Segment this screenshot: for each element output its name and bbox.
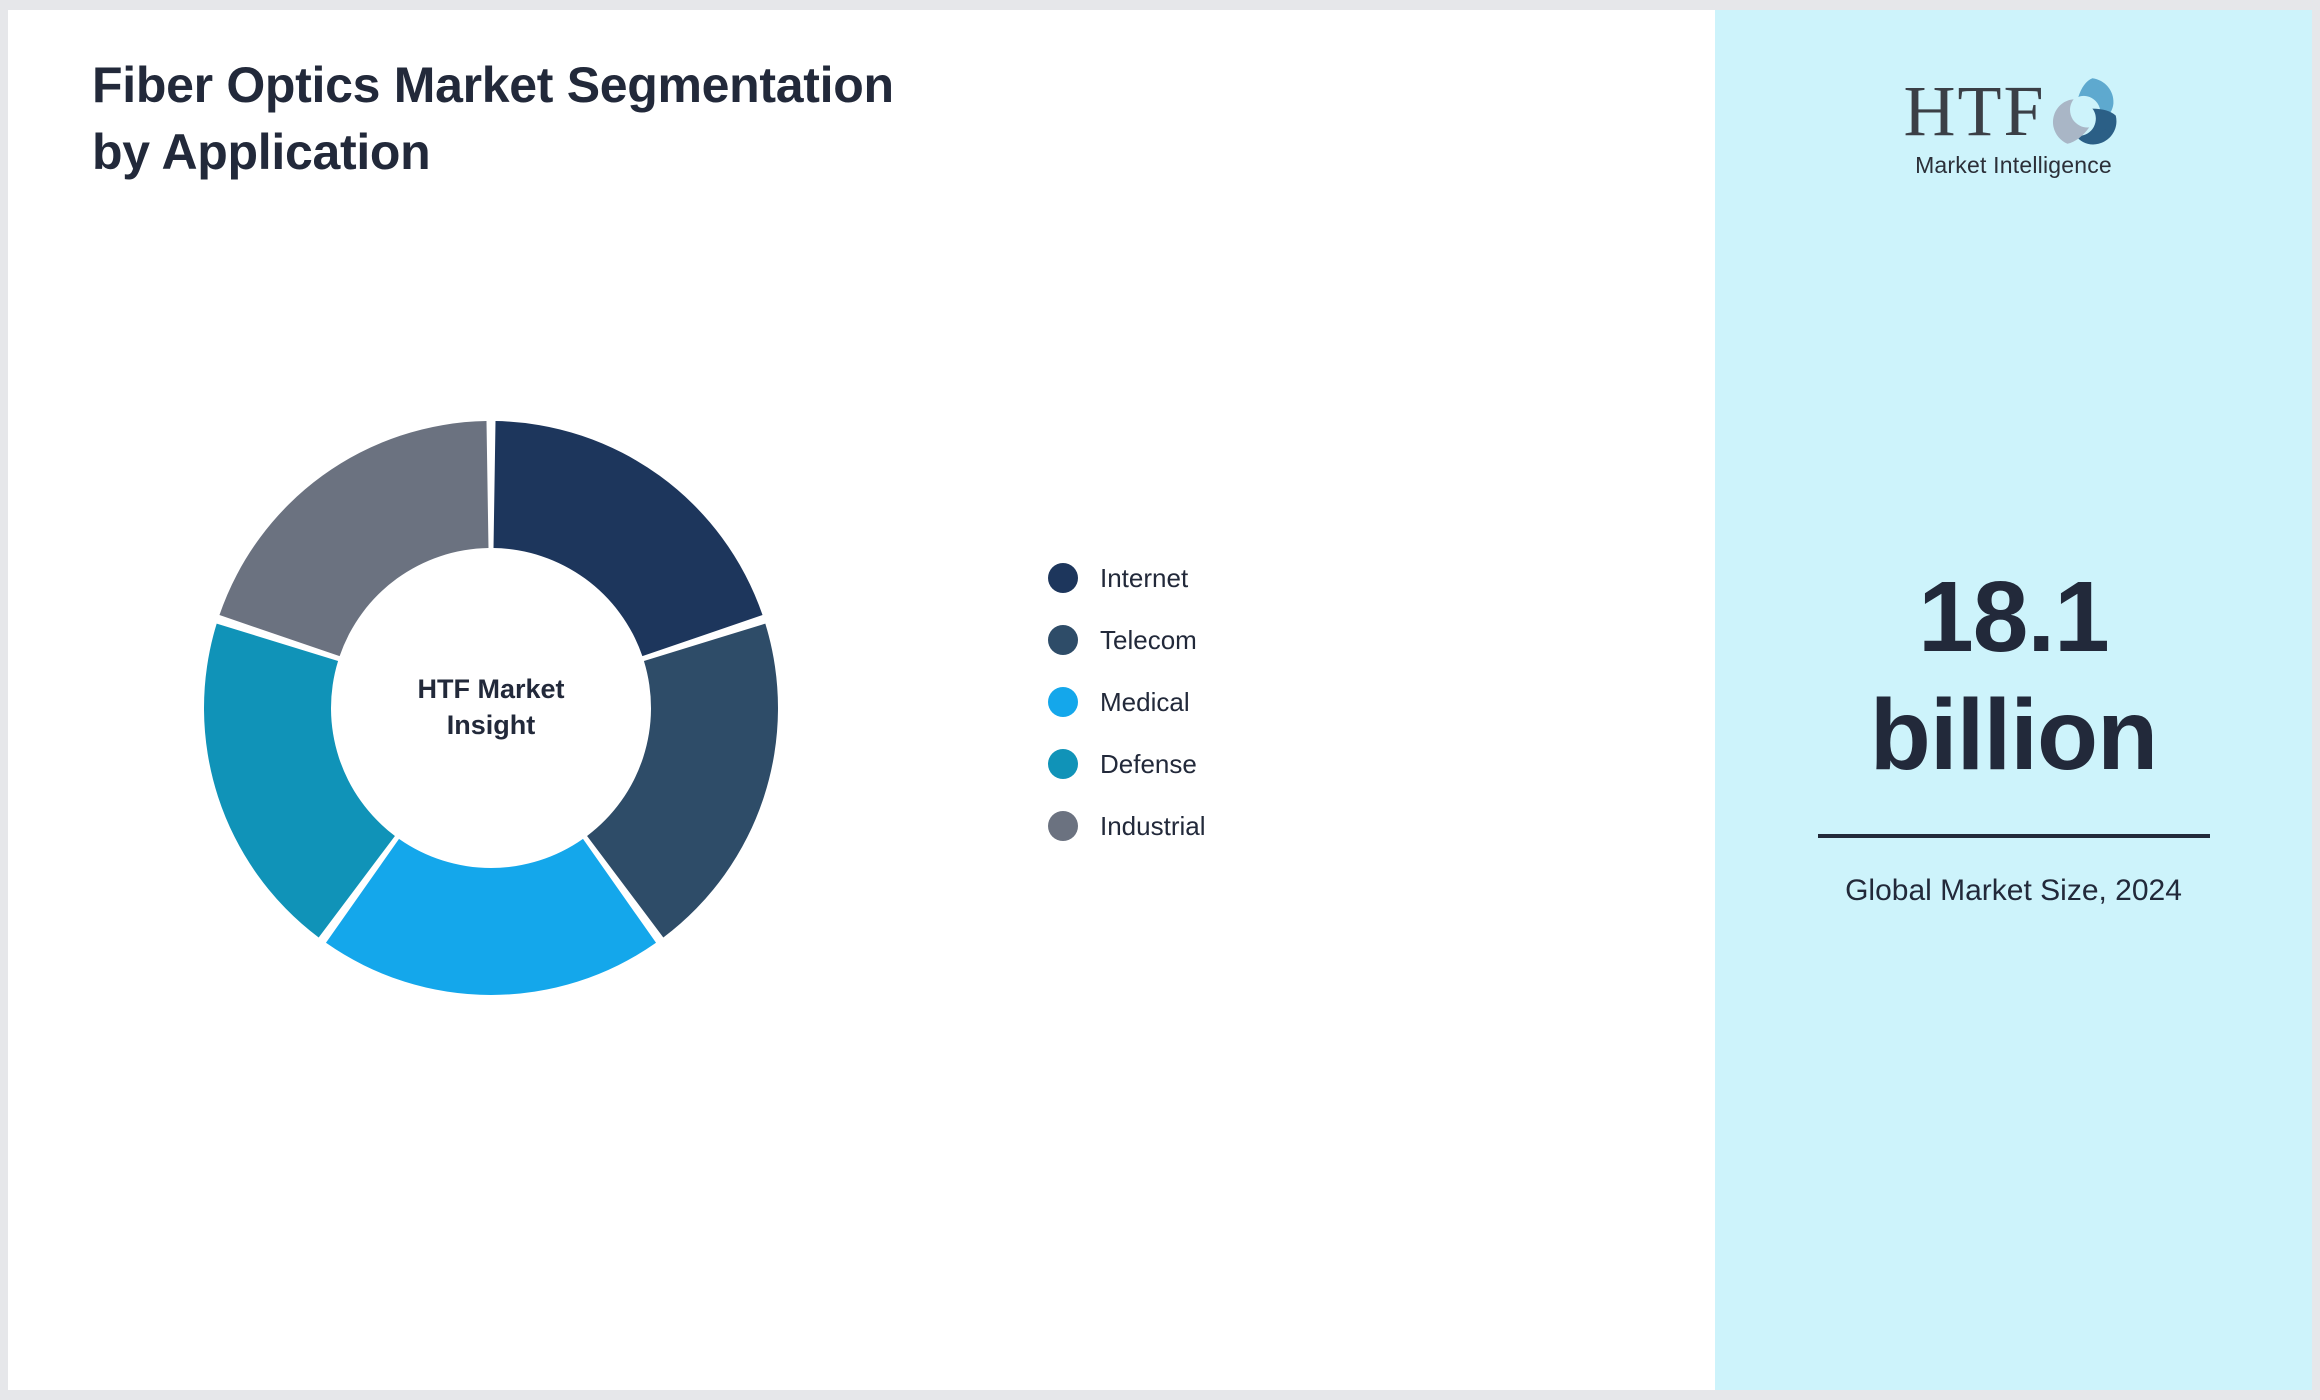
infographic-page: Fiber Optics Market Segmentation by Appl… (0, 0, 2320, 1400)
legend-item-internet: Internet (1048, 562, 1206, 594)
legend-swatch-icon (1048, 811, 1078, 841)
legend-item-defense: Defense (1048, 748, 1206, 780)
infographic-canvas: Fiber Optics Market Segmentation by Appl… (8, 10, 2312, 1390)
stat-caption: Global Market Size, 2024 (1814, 870, 2214, 913)
donut-slice-medical (326, 839, 656, 995)
legend-label: Medical (1100, 689, 1190, 715)
legend-label: Telecom (1100, 627, 1197, 653)
legend-item-telecom: Telecom (1048, 624, 1206, 656)
legend-item-medical: Medical (1048, 686, 1206, 718)
donut-chart: HTF Market Insight (204, 421, 778, 995)
donut-chart-svg (204, 421, 778, 995)
legend-item-industrial: Industrial (1048, 810, 1206, 842)
legend-swatch-icon (1048, 563, 1078, 593)
legend-label: Defense (1100, 751, 1197, 777)
htf-logo: HTF Market Intelligence (1715, 72, 2312, 179)
chart-legend: Internet Telecom Medical Defense Industr… (1048, 562, 1206, 842)
legend-swatch-icon (1048, 687, 1078, 717)
legend-label: Internet (1100, 565, 1188, 591)
logo-tagline: Market Intelligence (1915, 152, 2112, 179)
logo-wordmark: HTF (1903, 79, 2045, 144)
htf-swirl-icon (2042, 72, 2124, 150)
legend-label: Industrial (1100, 813, 1206, 839)
legend-swatch-icon (1048, 625, 1078, 655)
stat-divider (1818, 834, 2210, 838)
stat-sidebar: HTF Market Intelligence 18.1 billion Glo… (1715, 10, 2312, 1390)
legend-swatch-icon (1048, 749, 1078, 779)
stat-value: 18.1 billion (1804, 558, 2224, 794)
market-size-stat: 18.1 billion Global Market Size, 2024 (1715, 558, 2312, 913)
donut-slice-internet (494, 421, 763, 656)
donut-slice-group (204, 421, 778, 995)
page-title: Fiber Optics Market Segmentation by Appl… (92, 52, 1092, 186)
chart-panel: Fiber Optics Market Segmentation by Appl… (8, 10, 1715, 1390)
donut-slice-industrial (219, 421, 488, 656)
logo-mark-row: HTF (1903, 72, 2123, 150)
